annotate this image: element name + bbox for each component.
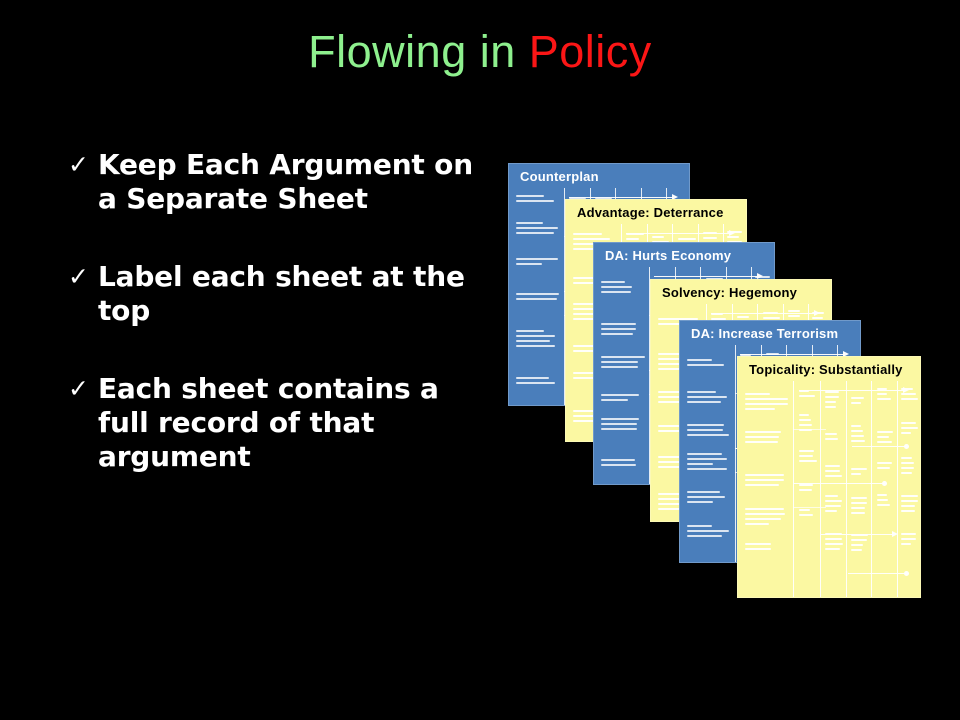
flow-sheet-label: Topicality: Substantially [749, 362, 903, 377]
flow-note [799, 484, 817, 494]
flow-note [851, 397, 869, 407]
flow-note [825, 533, 843, 553]
flow-separator [793, 507, 826, 508]
flow-sheet-label: Counterplan [520, 169, 599, 184]
flow-note [799, 390, 817, 400]
flow-note [799, 450, 817, 465]
flow-column-divider [897, 381, 898, 597]
flow-note [601, 394, 645, 404]
flow-note [799, 509, 817, 519]
flow-arrow [654, 276, 758, 277]
flow-column-divider [793, 381, 794, 597]
flow-note [601, 459, 645, 469]
flow-note [687, 453, 731, 473]
flow-sheet-label: DA: Hurts Economy [605, 248, 731, 263]
flow-note [516, 222, 560, 237]
flow-note [901, 422, 919, 437]
flow-sheet[interactable]: Topicality: Substantially [737, 356, 921, 598]
flow-sheet-label: Solvency: Hegemony [662, 285, 797, 300]
flow-arrow [793, 483, 885, 484]
flow-note [745, 474, 789, 489]
flow-note [601, 323, 645, 338]
flow-column-divider [871, 381, 872, 597]
flow-arrow [626, 233, 730, 234]
flow-note [825, 495, 843, 515]
flow-sheet-label: DA: Increase Terrorism [691, 326, 838, 341]
flow-note [601, 356, 645, 371]
flow-note [687, 391, 731, 406]
flow-note [601, 281, 645, 296]
flow-note [745, 508, 789, 528]
flow-note [877, 431, 895, 446]
flow-note [877, 462, 895, 472]
flow-sheet-body [738, 381, 920, 597]
flow-note [687, 424, 731, 439]
flow-note [745, 431, 789, 446]
flow-note [901, 495, 919, 515]
flow-column-divider [820, 381, 821, 597]
flow-note [901, 457, 919, 477]
flow-note [851, 468, 869, 478]
flow-note [516, 377, 560, 387]
flow-note [851, 534, 869, 554]
flow-note [687, 491, 731, 506]
flow-separator [793, 429, 826, 430]
flow-arrow [821, 534, 893, 535]
flow-column-divider [735, 345, 736, 562]
flow-note [901, 533, 919, 548]
flow-note [516, 293, 560, 303]
flow-arrow [711, 313, 815, 314]
flow-note [516, 258, 560, 268]
flow-note [825, 433, 843, 443]
flow-sheet-label: Advantage: Deterrance [577, 205, 724, 220]
flow-sheet-stack: CounterplanAdvantage: DeterranceDA: Hurt… [0, 0, 960, 720]
flow-note [825, 391, 843, 411]
flow-note [825, 465, 843, 480]
flow-note [877, 494, 895, 509]
flow-arrow [852, 446, 907, 447]
flow-note [516, 195, 560, 205]
flow-arrow [799, 390, 904, 391]
flow-note [601, 418, 645, 433]
flow-note [687, 359, 731, 369]
flow-arrow [848, 573, 907, 574]
flow-note [745, 393, 789, 413]
flow-column-divider [846, 381, 847, 597]
slide-canvas: Flowing in Policy ✓ Keep Each Argument o… [0, 0, 960, 720]
flow-arrow [569, 197, 673, 198]
flow-note [799, 414, 817, 434]
flow-note [516, 330, 560, 350]
flow-note [687, 525, 731, 540]
flow-arrow [740, 354, 844, 355]
flow-note [745, 543, 789, 553]
flow-note [851, 425, 869, 445]
flow-note [851, 497, 869, 517]
